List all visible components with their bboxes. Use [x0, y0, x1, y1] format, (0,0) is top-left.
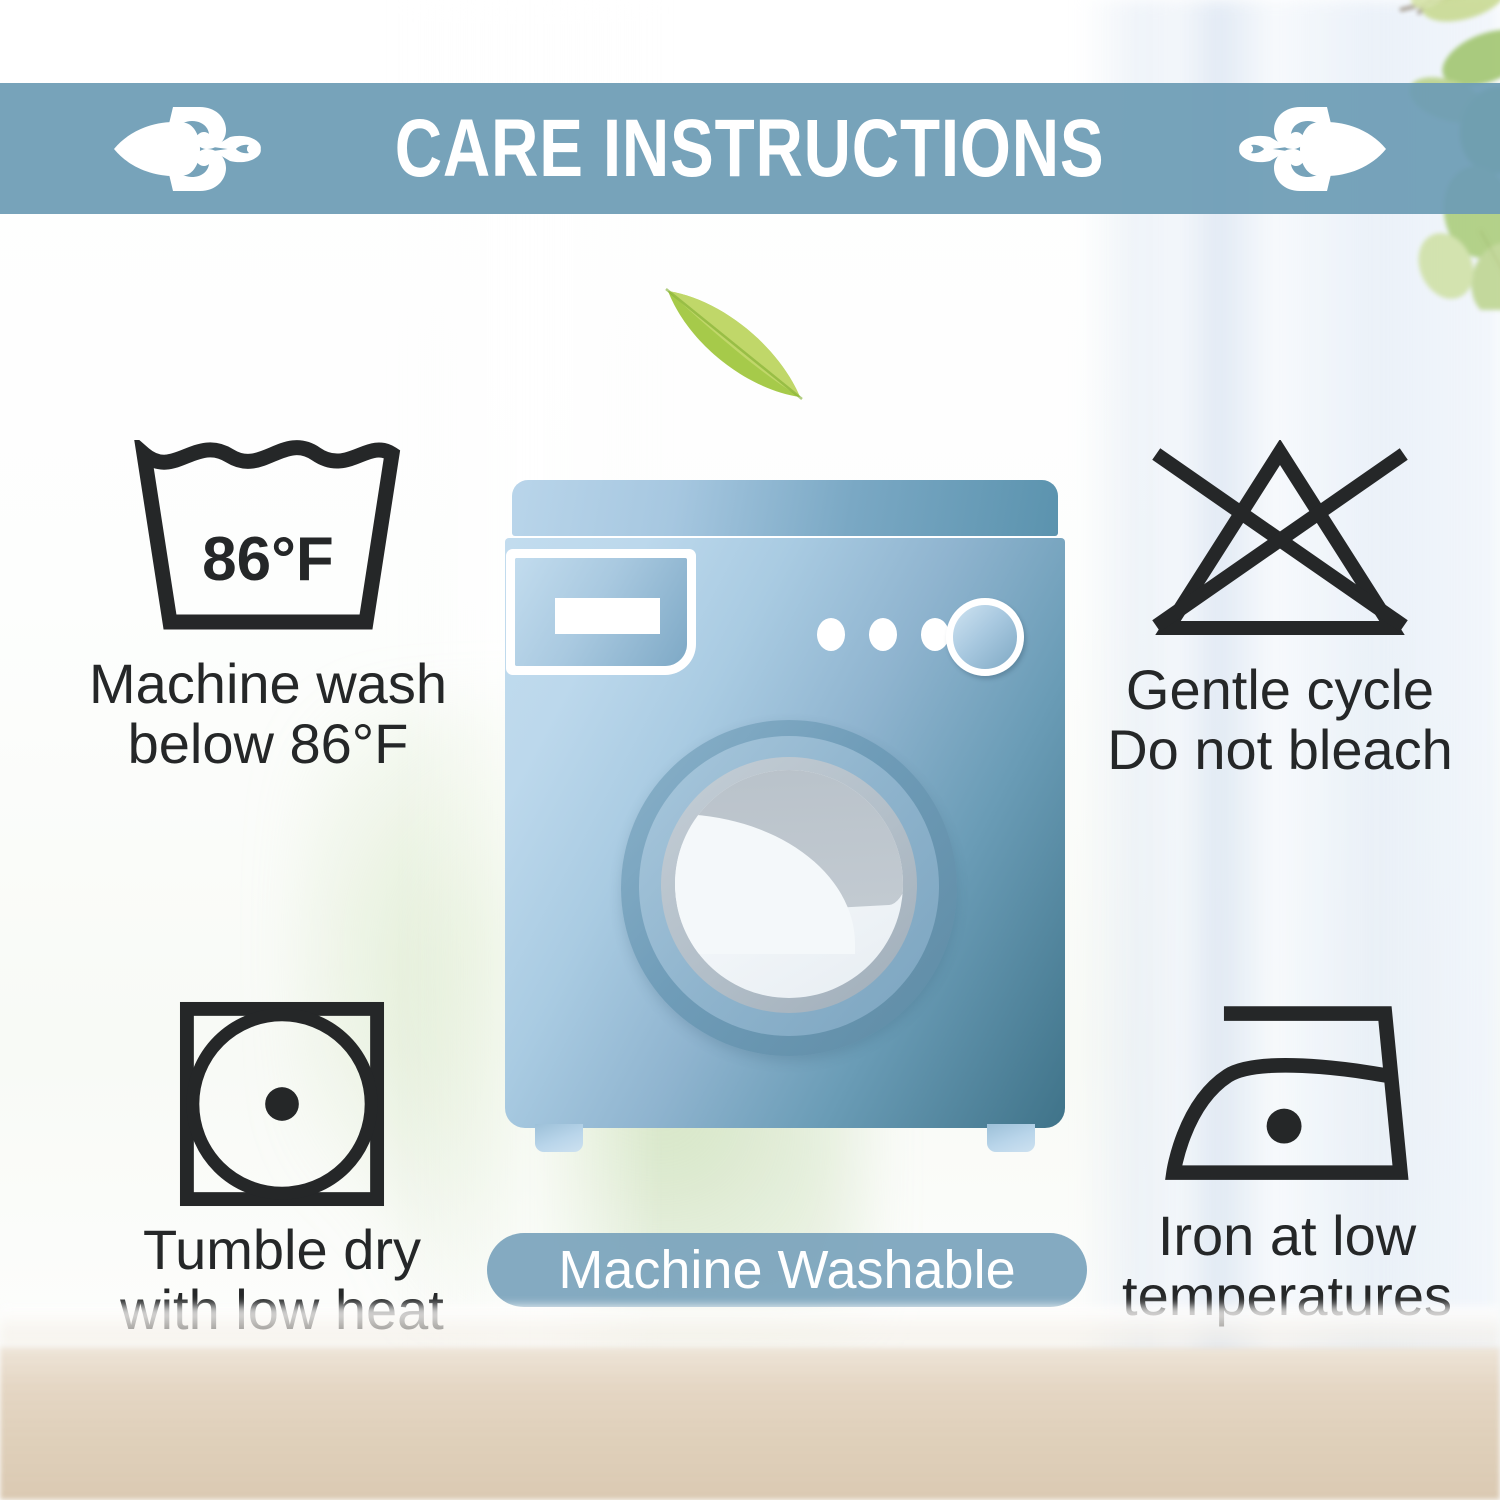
tumble-dry-low-icon	[178, 1000, 386, 1208]
wash-tub-wrap: 86°F	[134, 440, 402, 636]
program-knob	[946, 598, 1024, 676]
care-symbol-caption: Machine wash below 86°F	[89, 654, 447, 774]
indicator-light	[869, 618, 897, 651]
machine-top-panel	[512, 480, 1058, 536]
machine-foot-left	[535, 1124, 583, 1152]
caption-line-1: Gentle cycle	[1126, 658, 1434, 721]
detergent-drawer-slot	[555, 598, 660, 634]
machine-body	[505, 538, 1065, 1128]
detergent-drawer	[515, 558, 687, 666]
indicator-lights	[817, 618, 949, 651]
fleur-de-lis-ornament-left-icon	[112, 101, 262, 197]
door-gasket	[661, 757, 917, 1013]
caption-line-2: Do not bleach	[1107, 718, 1453, 781]
caption-line-2: below 86°F	[128, 712, 409, 775]
machine-door	[621, 720, 957, 1056]
iron-low-temperature-icon	[1156, 1000, 1418, 1194]
caption-line-1: Machine wash	[89, 652, 447, 715]
care-symbol-tumble-dry: Tumble dry with low heat	[72, 1000, 492, 1340]
care-symbol-caption: Gentle cycle Do not bleach	[1107, 660, 1453, 780]
badge-label: Machine Washable	[558, 1243, 1015, 1297]
care-instructions-infographic: CARE INSTRUCTIONS 86°F Machine wash belo	[0, 0, 1500, 1500]
page-title: CARE INSTRUCTIONS	[395, 108, 1105, 190]
fleur-de-lis-ornament-right-icon	[1238, 101, 1388, 197]
indicator-light	[817, 618, 845, 651]
wooden-table-surface	[0, 1348, 1500, 1500]
header-banner: CARE INSTRUCTIONS	[0, 83, 1500, 214]
machine-foot-right	[987, 1124, 1035, 1152]
caption-line-1: Tumble dry	[143, 1218, 421, 1281]
caption-line-1: Iron at low	[1158, 1204, 1416, 1267]
care-symbol-do-not-bleach: Gentle cycle Do not bleach	[1060, 440, 1500, 780]
door-ring-inner	[639, 736, 939, 1036]
wash-temperature-value: 86°F	[134, 524, 402, 595]
washing-machine-illustration	[505, 480, 1065, 1180]
do-not-bleach-triangle-icon	[1140, 440, 1420, 640]
table-edge-highlight	[0, 1306, 1500, 1350]
care-symbol-iron: Iron at low temperatures	[1072, 1000, 1500, 1326]
door-glass	[675, 770, 903, 998]
care-symbol-machine-wash: 86°F Machine wash below 86°F	[48, 440, 488, 774]
indicator-light	[921, 618, 949, 651]
machine-washable-badge: Machine Washable	[487, 1233, 1087, 1307]
floating-leaf-icon	[660, 285, 810, 405]
